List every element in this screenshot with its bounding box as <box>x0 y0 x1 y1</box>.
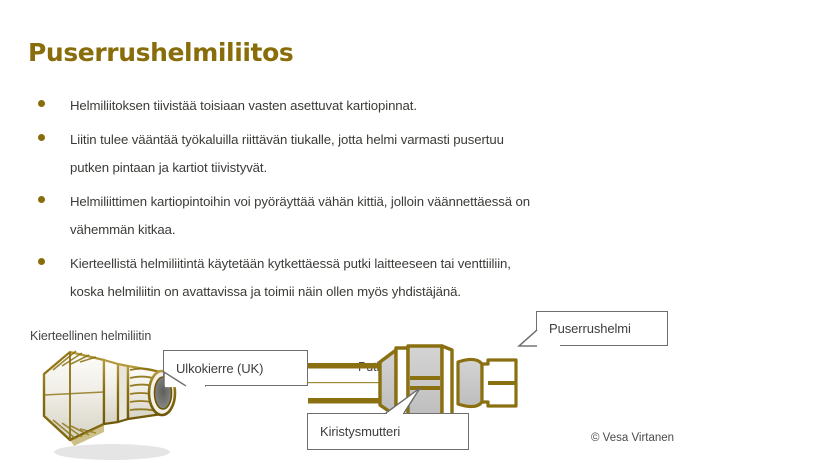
bullet-line: vähemmän kitkaa. <box>70 216 694 244</box>
bullet-dot-icon <box>38 258 45 265</box>
bullet-dot-icon <box>38 100 45 107</box>
list-item: Helmiliitoksen tiivistää toisiaan vasten… <box>34 92 694 120</box>
list-item: Liitin tulee vääntää työkaluilla riittäv… <box>34 126 694 182</box>
bullet-line: Liitin tulee vääntää työkaluilla riittäv… <box>70 126 694 154</box>
bullet-line: Helmiliittimen kartiopintoihin voi pyörä… <box>70 188 694 216</box>
list-item: Helmiliittimen kartiopintoihin voi pyörä… <box>34 188 694 244</box>
page-title: Puserrushelmiliitos <box>28 38 293 67</box>
bullet-dot-icon <box>38 196 45 203</box>
list-item: Kierteellistä helmiliitintä käytetään ky… <box>34 250 694 306</box>
bullet-line: Helmiliitoksen tiivistää toisiaan vasten… <box>70 92 694 120</box>
callout-pointers <box>0 300 824 465</box>
bullet-list: Helmiliitoksen tiivistää toisiaan vasten… <box>34 92 694 312</box>
bullet-line: putken pintaan ja kartiot tiivistyvät. <box>70 154 694 182</box>
slide-canvas: Puserrushelmiliitos Helmiliitoksen tiivi… <box>0 0 824 465</box>
diagram-area: Kierteellinen helmiliitin Putki © Vesa V… <box>0 300 824 465</box>
bullet-line: Kierteellistä helmiliitintä käytetään ky… <box>70 250 694 278</box>
bullet-dot-icon <box>38 134 45 141</box>
